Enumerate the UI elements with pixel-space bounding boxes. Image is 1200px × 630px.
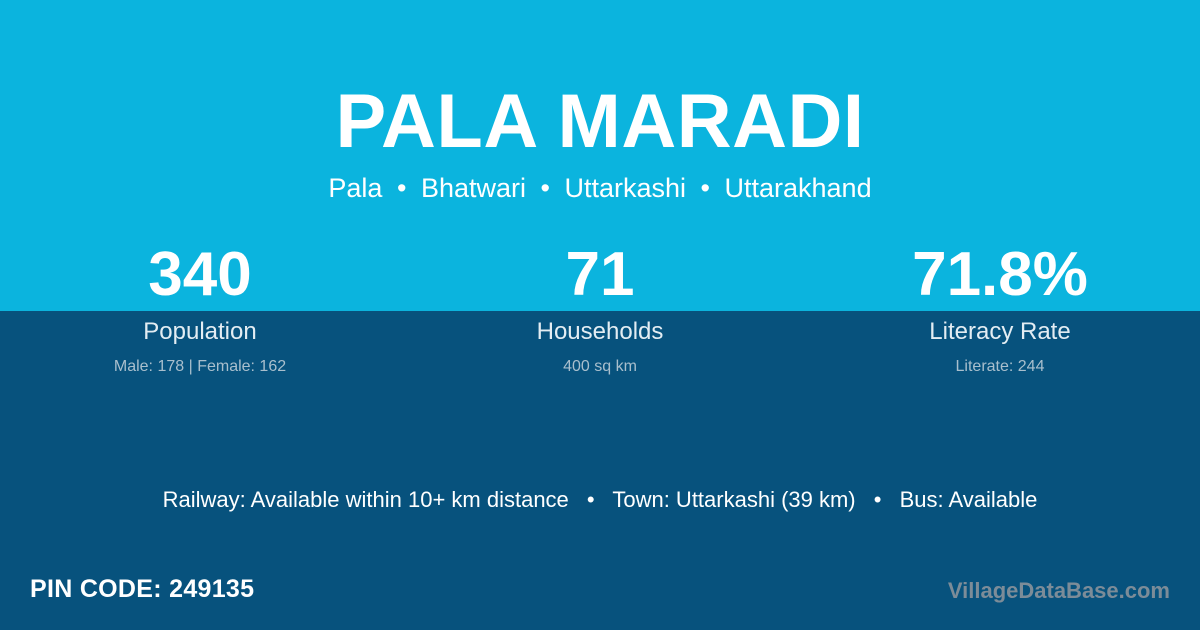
page-title: PALA MARADI [0,0,1200,161]
breadcrumb: Pala • Bhatwari • Uttarkashi • Uttarakha… [0,161,1200,204]
breadcrumb-village: Pala [328,173,382,203]
facilities-line: Railway: Available within 10+ km distanc… [0,486,1200,515]
facility-bus: Bus: Available [900,487,1038,512]
card-footer: PIN CODE: 249135 VillageDataBase.com [0,572,1200,630]
stat-block-households: 71 Households 400 sq km [400,243,800,376]
village-info-card: PALA MARADI Pala • Bhatwari • Uttarkashi… [0,0,1200,630]
stat-sub-population: Male: 178 | Female: 162 [0,357,400,376]
breadcrumb-block: Bhatwari [421,173,526,203]
stat-sub-households: 400 sq km [400,357,800,376]
breadcrumb-separator-2: • [534,173,557,203]
facility-town: Town: Uttarkashi (39 km) [612,487,855,512]
stat-value-households: 71 [400,243,800,307]
breadcrumb-state: Uttarakhand [725,173,872,203]
breadcrumb-separator-3: • [694,173,717,203]
stat-sub-literacy: Literate: 244 [800,357,1200,376]
stat-value-population: 340 [0,243,400,307]
facility-separator-1: • [575,487,607,512]
stat-block-literacy: 71.8% Literacy Rate Literate: 244 [800,243,1200,376]
statistics-row: 340 Population Male: 178 | Female: 162 7… [0,243,1200,376]
stat-label-literacy: Literacy Rate [800,318,1200,347]
site-watermark: VillageDataBase.com [948,578,1170,604]
facility-railway: Railway: Available within 10+ km distanc… [163,487,569,512]
stat-block-population: 340 Population Male: 178 | Female: 162 [0,243,400,376]
breadcrumb-separator-1: • [390,173,413,203]
stat-label-households: Households [400,318,800,347]
breadcrumb-district: Uttarkashi [564,173,686,203]
card-header: PALA MARADI Pala • Bhatwari • Uttarkashi… [0,0,1200,204]
pin-code-label: PIN CODE: 249135 [30,575,254,604]
stat-label-population: Population [0,318,400,347]
stat-value-literacy: 71.8% [800,243,1200,307]
facility-separator-2: • [862,487,894,512]
